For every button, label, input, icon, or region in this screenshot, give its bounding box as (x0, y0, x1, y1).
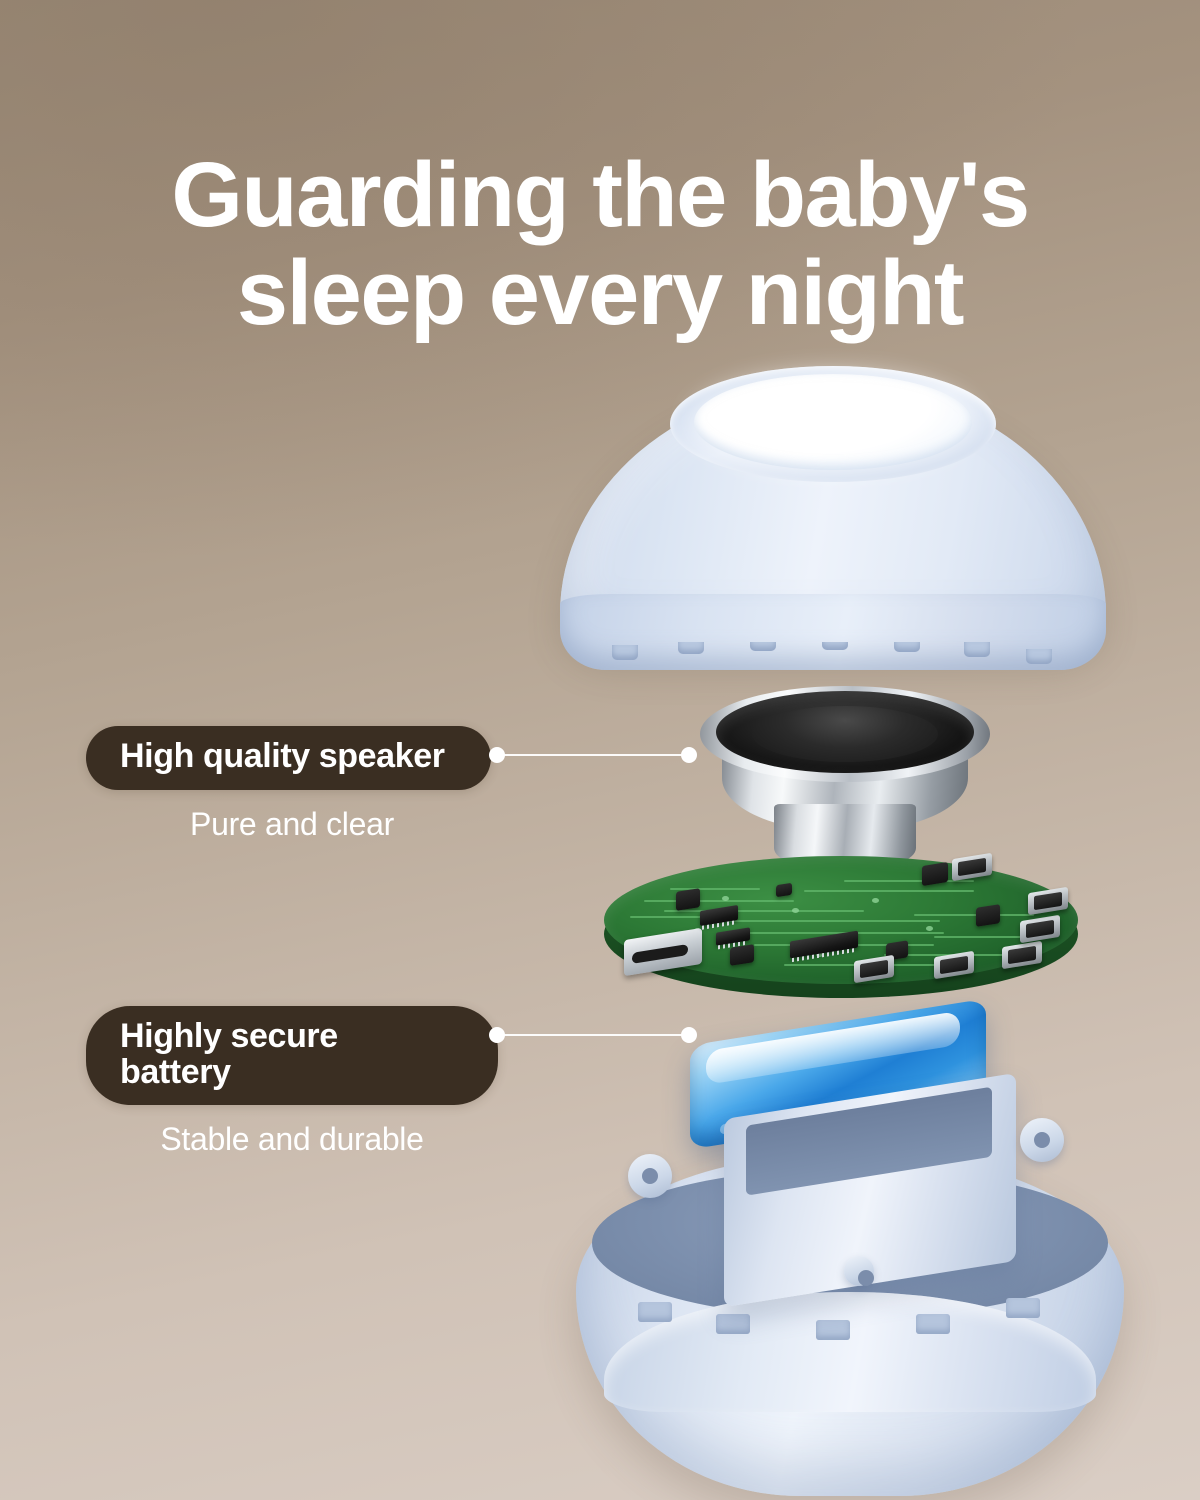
bottom-housing (576, 1096, 1124, 1496)
circuit-board (604, 846, 1078, 1016)
callout-speaker-subtitle: Pure and clear (86, 806, 498, 843)
screw-boss (1020, 1118, 1064, 1162)
leader-line-battery (497, 1034, 689, 1036)
callout-speaker-pill[interactable]: High quality speaker (86, 726, 491, 790)
capacitor (976, 904, 1000, 927)
infographic-page: Guarding the baby's sleep every night (0, 0, 1200, 1500)
callout-battery-subtitle: Stable and durable (86, 1121, 498, 1158)
capacitor (730, 944, 754, 966)
capacitor (922, 862, 948, 886)
callout-battery-title: Highly secure battery (120, 1019, 452, 1090)
screw-boss (844, 1256, 874, 1286)
callout-speaker-title: High quality speaker (120, 739, 445, 775)
top-dome-shell (548, 356, 1118, 676)
leader-line-speaker (497, 754, 689, 756)
capacitor (676, 888, 700, 911)
callout-speaker: High quality speaker Pure and clear (86, 726, 498, 843)
dome-notch-row (560, 642, 1106, 670)
battery-compartment-cavity (746, 1087, 992, 1196)
callout-battery-pill[interactable]: Highly secure battery (86, 1006, 498, 1105)
leader-dot-speaker-end (681, 747, 697, 763)
callout-battery: Highly secure battery Stable and durable (86, 1006, 498, 1158)
leader-dot-battery-end (681, 1027, 697, 1043)
screw-boss (628, 1154, 672, 1198)
light-diffuser-lens (694, 374, 972, 470)
speaker-dome (752, 706, 938, 762)
